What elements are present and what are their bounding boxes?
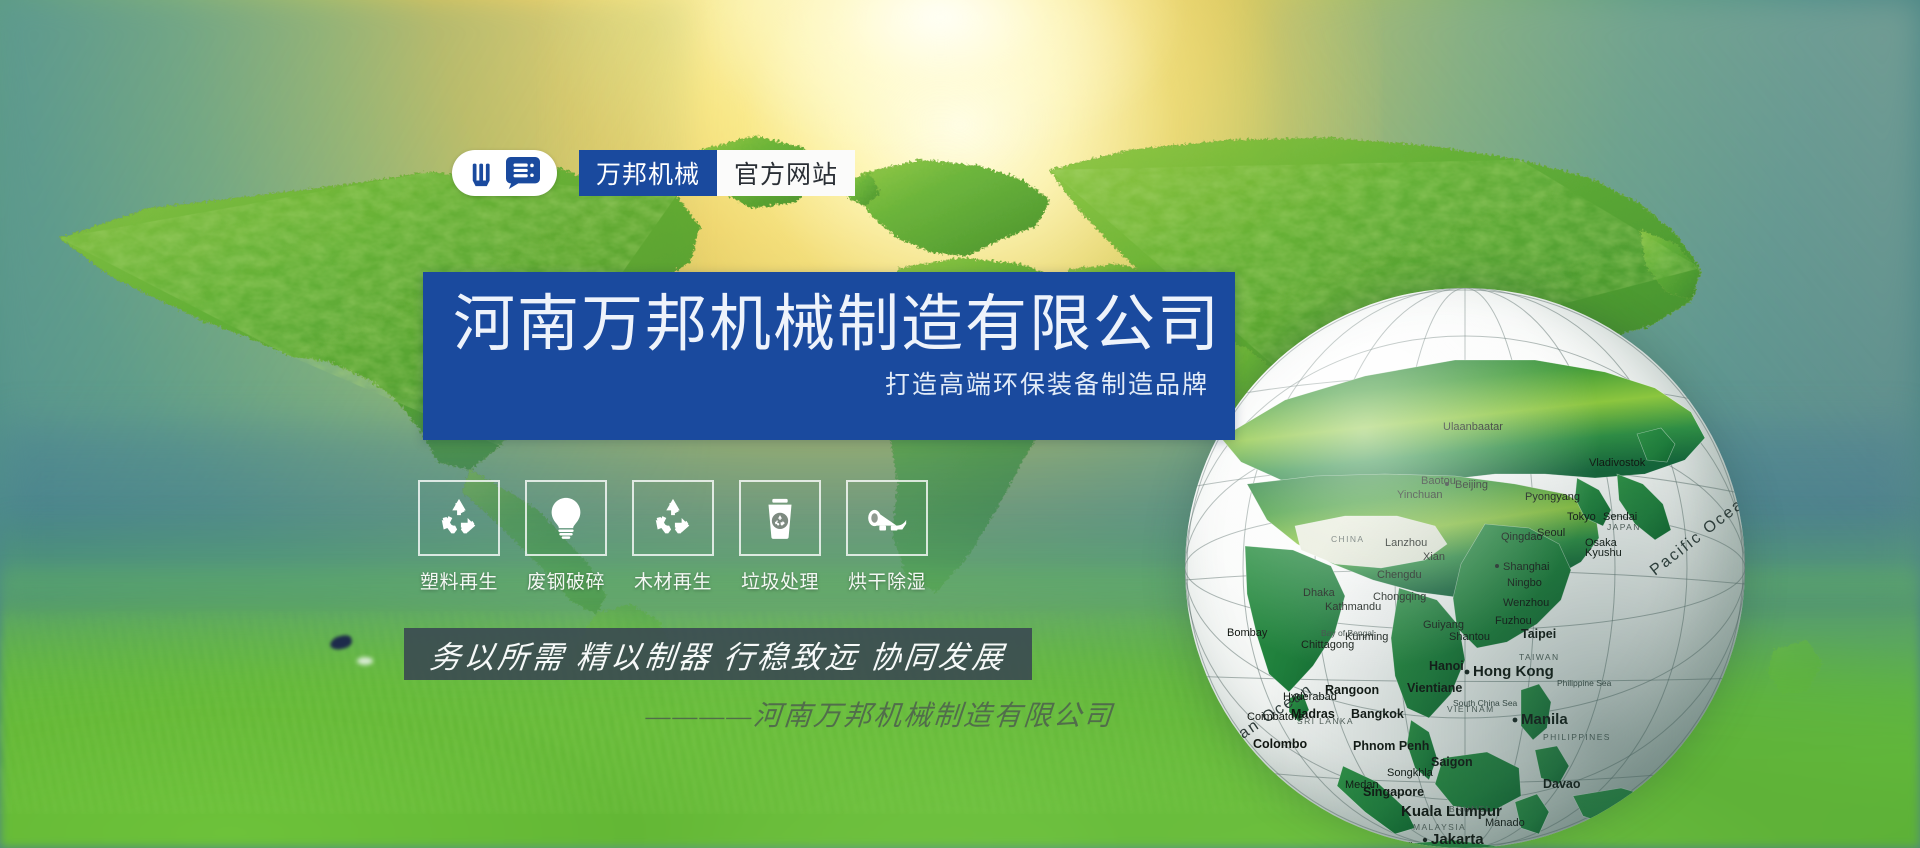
logo-w-icon bbox=[469, 158, 499, 188]
lightbulb-icon bbox=[543, 495, 589, 541]
svg-text:Bangkok: Bangkok bbox=[1351, 707, 1404, 721]
svg-text:Kyushu: Kyushu bbox=[1585, 547, 1622, 559]
svg-text:Shantou: Shantou bbox=[1449, 631, 1490, 643]
feature-icon-box[interactable] bbox=[525, 480, 607, 556]
svg-text:Songkhla: Songkhla bbox=[1387, 767, 1434, 779]
svg-text:Qingdao: Qingdao bbox=[1501, 531, 1543, 543]
svg-text:Davao: Davao bbox=[1543, 777, 1581, 791]
feature-item-drying-dehumidifying[interactable]: 烘干除湿 bbox=[846, 480, 928, 594]
svg-text:Chittagong: Chittagong bbox=[1301, 639, 1354, 651]
svg-text:Manado: Manado bbox=[1485, 817, 1525, 829]
svg-text:Saigon: Saigon bbox=[1431, 755, 1473, 769]
svg-text:Vientiane: Vientiane bbox=[1407, 681, 1462, 695]
svg-text:Wenzhou: Wenzhou bbox=[1503, 597, 1549, 609]
svg-text:Xian: Xian bbox=[1423, 551, 1445, 563]
svg-text:Manila: Manila bbox=[1521, 711, 1568, 728]
recycle-icon bbox=[650, 495, 696, 541]
svg-text:Colombo: Colombo bbox=[1253, 737, 1308, 751]
svg-text:Guiyang: Guiyang bbox=[1423, 619, 1464, 631]
country-label-china: CHINA bbox=[1331, 534, 1364, 544]
svg-text:Ulaanbaatar: Ulaanbaatar bbox=[1443, 421, 1503, 433]
country-label-taiwan: TAIWAN bbox=[1519, 652, 1560, 662]
trash-bin-icon bbox=[757, 495, 803, 541]
svg-text:Hanoi: Hanoi bbox=[1429, 659, 1464, 673]
svg-text:Fuzhou: Fuzhou bbox=[1495, 615, 1532, 627]
svg-text:Dhaka: Dhaka bbox=[1303, 587, 1336, 599]
tab-official-site[interactable]: 官方网站 bbox=[717, 150, 855, 196]
svg-text:Baotou: Baotou bbox=[1421, 475, 1456, 487]
feature-label: 木材再生 bbox=[632, 567, 714, 594]
svg-text:Jakarta: Jakarta bbox=[1431, 831, 1484, 848]
feature-item-waste-treatment[interactable]: 垃圾处理 bbox=[739, 480, 821, 594]
svg-text:Coimbatore: Coimbatore bbox=[1247, 711, 1304, 723]
feature-label: 垃圾处理 bbox=[739, 567, 821, 594]
hero-banner: Pacific Ocean Indian Ocean South China S… bbox=[0, 0, 1920, 848]
svg-text:Ningbo: Ningbo bbox=[1507, 577, 1542, 589]
page-title: 河南万邦机械制造有限公司 bbox=[453, 290, 1209, 359]
dryer-drum-icon bbox=[864, 495, 910, 541]
globe: Pacific Ocean Indian Ocean South China S… bbox=[1185, 288, 1745, 848]
slogan-attribution: ————河南万邦机械制造有限公司 bbox=[644, 694, 1207, 734]
svg-text:Vladivostok: Vladivostok bbox=[1589, 457, 1646, 469]
svg-text:Palembang: Palembang bbox=[1357, 839, 1413, 848]
sea-label-philippine: Philippine Sea bbox=[1557, 678, 1612, 688]
svg-text:Yinchuan: Yinchuan bbox=[1397, 489, 1442, 501]
country-label-philippines: PHILIPPINES bbox=[1543, 732, 1611, 742]
country-label-vietnam: VIETNAM bbox=[1447, 704, 1495, 714]
svg-text:Port Moresby: Port Moresby bbox=[1569, 829, 1649, 843]
svg-text:Lanzhou: Lanzhou bbox=[1385, 537, 1427, 549]
feature-icon-box[interactable] bbox=[632, 480, 714, 556]
svg-text:Phnom Penh: Phnom Penh bbox=[1353, 739, 1429, 753]
site-logo-bar[interactable]: 万邦机械 官方网站 bbox=[452, 150, 855, 196]
brand-logo-mark[interactable] bbox=[452, 150, 557, 196]
feature-icon-box[interactable] bbox=[418, 480, 500, 556]
feature-label: 塑料再生 bbox=[418, 567, 500, 594]
svg-text:Beijing: Beijing bbox=[1455, 479, 1488, 491]
recycle-icon bbox=[436, 495, 482, 541]
country-label-japan: JAPAN bbox=[1607, 522, 1641, 532]
feature-icon-box[interactable] bbox=[846, 480, 928, 556]
feature-icon-row: 塑料再生 废钢破碎 bbox=[418, 480, 928, 594]
hero-title-box: 河南万邦机械制造有限公司 打造高端环保装备制造品牌 bbox=[423, 272, 1235, 440]
feature-item-plastic-recycling[interactable]: 塑料再生 bbox=[418, 480, 500, 594]
svg-text:Kathmandu: Kathmandu bbox=[1325, 601, 1381, 613]
logo-b-bubble-icon bbox=[505, 156, 541, 190]
svg-text:Bombay: Bombay bbox=[1227, 627, 1268, 639]
svg-text:Pyongyang: Pyongyang bbox=[1525, 491, 1580, 503]
tab-brand[interactable]: 万邦机械 bbox=[579, 150, 717, 196]
svg-text:Sendai: Sendai bbox=[1603, 511, 1637, 523]
svg-text:Chengdu: Chengdu bbox=[1377, 569, 1422, 581]
svg-text:Tokyo: Tokyo bbox=[1567, 511, 1596, 523]
slogan-text: 务以所需 精以制器 行稳致远 协同发展 bbox=[428, 632, 1009, 677]
feature-label: 废钢破碎 bbox=[525, 567, 607, 594]
feature-label: 烘干除湿 bbox=[846, 567, 928, 594]
svg-text:Taipei: Taipei bbox=[1521, 627, 1556, 641]
feature-icon-box[interactable] bbox=[739, 480, 821, 556]
globe-sphere: Pacific Ocean Indian Ocean South China S… bbox=[1185, 288, 1745, 848]
page-subtitle: 打造高端环保装备制造品牌 bbox=[453, 365, 1209, 401]
feature-item-wood-recycling[interactable]: 木材再生 bbox=[632, 480, 714, 594]
svg-text:Medan: Medan bbox=[1345, 779, 1379, 791]
svg-text:Hong Kong: Hong Kong bbox=[1473, 663, 1554, 680]
svg-text:Hyderabad: Hyderabad bbox=[1283, 691, 1337, 703]
slogan-banner: 务以所需 精以制器 行稳致远 协同发展 bbox=[404, 628, 1032, 680]
insect-highlight bbox=[357, 657, 373, 665]
svg-text:Shanghai: Shanghai bbox=[1503, 561, 1550, 573]
feature-item-scrap-steel-crushing[interactable]: 废钢破碎 bbox=[525, 480, 607, 594]
